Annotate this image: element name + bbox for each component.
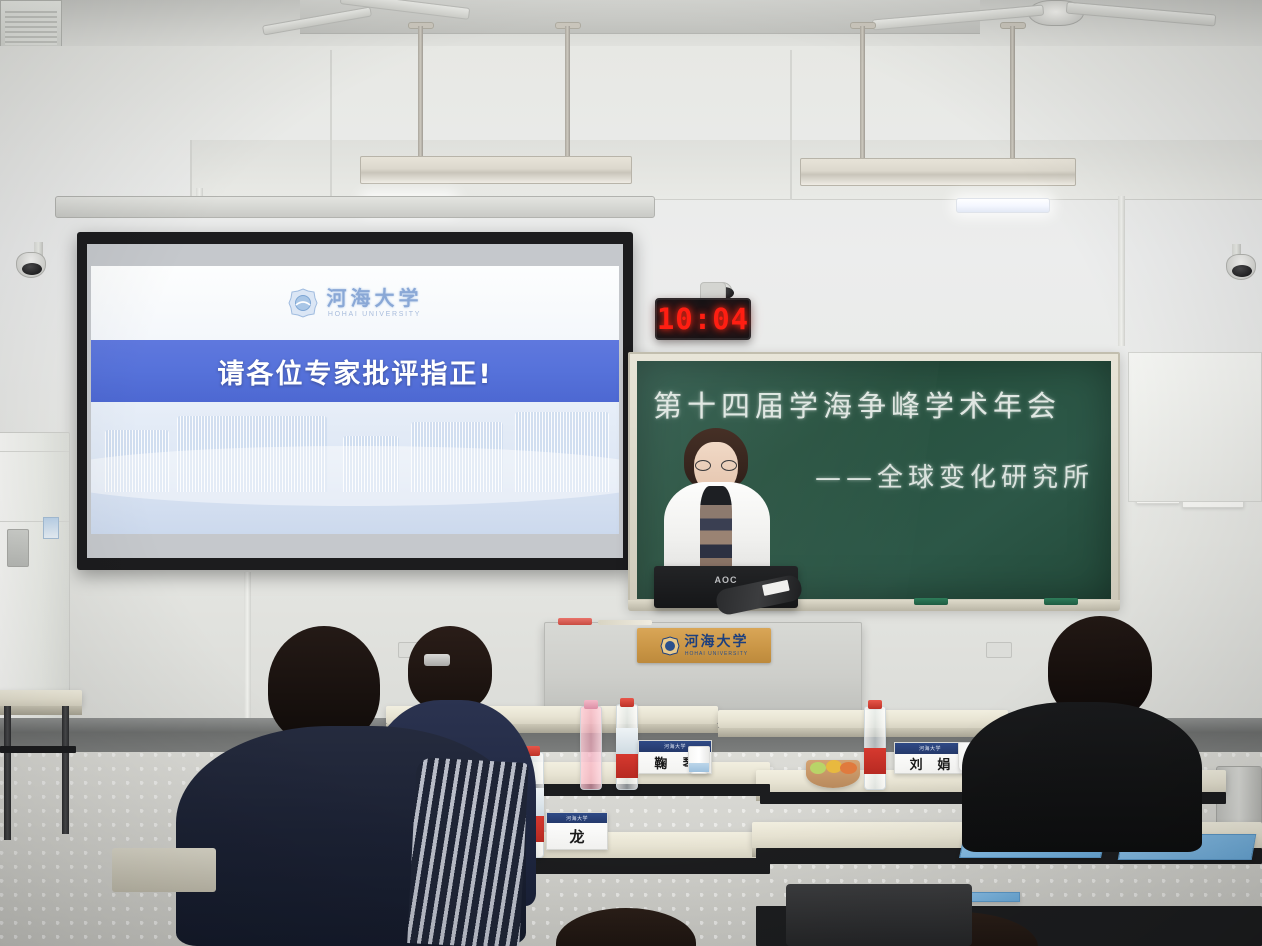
ceiling-light-fixture: [360, 156, 632, 184]
light-rod: [418, 26, 423, 160]
placard-name-text: 刘 娟: [895, 754, 965, 774]
slide-headline: 请各位专家批评指正!: [217, 352, 492, 391]
bottle-label: [616, 728, 638, 754]
slide-university-en: HOHAI UNIVERSITY: [328, 311, 421, 318]
paper-cup[interactable]: [688, 746, 710, 774]
wall-seam: [330, 50, 332, 200]
monitor-brand-label: AOC: [715, 575, 738, 585]
pointer-stick[interactable]: [598, 620, 652, 625]
glasses-lens-left: [695, 460, 711, 471]
projector-screen: 河海大学 HOHAI UNIVERSITY 请各位专家批评指正!: [77, 232, 633, 570]
bottle-cap[interactable]: [584, 700, 598, 709]
hohai-logo-text: 河海大学 HOHAI UNIVERSITY: [327, 288, 423, 318]
ac-vents: [5, 11, 57, 45]
presenter: [658, 428, 776, 578]
screen-surface: 河海大学 HOHAI UNIVERSITY 请各位专家批评指正!: [87, 244, 623, 558]
slide-footer-graphic: [91, 402, 619, 534]
projector-screen-roller[interactable]: [55, 196, 655, 218]
light-rod: [565, 26, 570, 160]
water-bottle-pink[interactable]: [580, 706, 602, 790]
placard-name-text: 龙: [547, 823, 607, 849]
fruit-piece: [840, 762, 857, 774]
placard-band: 河海大学: [547, 813, 607, 823]
fruit-piece: [810, 762, 826, 774]
placard-band-text: 河海大学: [664, 743, 686, 750]
audience-member: [556, 908, 696, 946]
chair-back: [112, 848, 216, 892]
placard-char-1: 鞠: [654, 753, 667, 772]
clock-time-display: 10:04: [657, 302, 749, 336]
blackboard-subtitle: ——全球变化研究所: [815, 457, 1094, 494]
presentation-slide: 河海大学 HOHAI UNIVERSITY 请各位专家批评指正!: [91, 266, 619, 534]
podium-plaque-cn: 河海大学: [685, 635, 749, 649]
light-rod: [860, 26, 865, 162]
fruit-bowl: [806, 760, 860, 788]
fluorescent-tube: [956, 198, 1050, 213]
name-placard: 河海大学 刘 娟: [894, 742, 966, 774]
audience-torso: [962, 702, 1202, 852]
desk-crossbar: [0, 746, 76, 753]
audience-member: [962, 616, 1202, 842]
wall-seam: [190, 140, 192, 200]
cabinet-control-panel[interactable]: [7, 529, 29, 567]
cabinet-seam: [0, 451, 69, 452]
surveillance-camera-icon: [1226, 254, 1256, 280]
desk: [0, 690, 82, 706]
placard-band-text: 河海大学: [566, 815, 588, 822]
podium-logo-icon: [660, 636, 680, 656]
placard-char-1: 龙: [569, 826, 584, 847]
desk-edge: [0, 706, 82, 715]
striped-scarf: [407, 757, 529, 946]
surveillance-camera-icon: [16, 252, 46, 278]
blackboard-title: 第十四届学海争峰学术年会: [653, 383, 1061, 425]
glasses-lens-right: [721, 460, 737, 471]
placard-band: 河海大学: [895, 743, 965, 754]
slide-headline-band: 请各位专家批评指正!: [91, 340, 619, 402]
placard-char-2: 娟: [937, 754, 950, 773]
ceiling-light-fixture: [800, 158, 1076, 186]
podium-plaque-en: HOHAI UNIVERSITY: [685, 651, 748, 657]
slide-header: 河海大学 HOHAI UNIVERSITY: [91, 266, 619, 340]
blackboard-eraser[interactable]: [914, 598, 948, 605]
cabinet-label-sticker: [43, 517, 59, 539]
slide-swoosh: [91, 446, 619, 506]
bottle-cap[interactable]: [868, 700, 882, 709]
desk-leg: [4, 706, 11, 840]
cup-band: [689, 763, 709, 772]
wall-seam: [790, 50, 792, 200]
right-wall-whiteboard: [1128, 352, 1262, 502]
air-conditioner-unit: [0, 0, 62, 52]
slide-university-cn: 河海大学: [327, 288, 423, 308]
placard-char-1: 刘: [910, 754, 923, 773]
name-placard: 河海大学 龙: [546, 812, 608, 850]
wall-conduit: [1118, 196, 1125, 346]
bottle-cap[interactable]: [620, 698, 634, 707]
desk-leg: [62, 706, 69, 834]
blackboard-eraser[interactable]: [1044, 598, 1078, 605]
presenter-inner-shirt: [700, 486, 732, 572]
wall-cabinet[interactable]: [0, 432, 70, 732]
chalk-box[interactable]: [558, 618, 592, 625]
wall-led-clock: 10:04: [655, 298, 751, 340]
placard-band-text: 河海大学: [919, 745, 941, 752]
light-rod: [1010, 26, 1015, 162]
bottle-label: [864, 748, 886, 774]
bottle-label: [616, 754, 638, 778]
podium-plaque: 河海大学 HOHAI UNIVERSITY: [637, 628, 771, 663]
hohai-logo-icon: [288, 288, 318, 318]
classroom-scene: 河海大学 HOHAI UNIVERSITY 请各位专家批评指正!: [0, 0, 1262, 946]
wall-upper-band: [190, 140, 1262, 200]
microphone-label-tag: [762, 580, 790, 596]
chair-back: [786, 884, 972, 946]
presenter-glasses-icon: [695, 460, 737, 471]
audience-head: [556, 908, 696, 946]
